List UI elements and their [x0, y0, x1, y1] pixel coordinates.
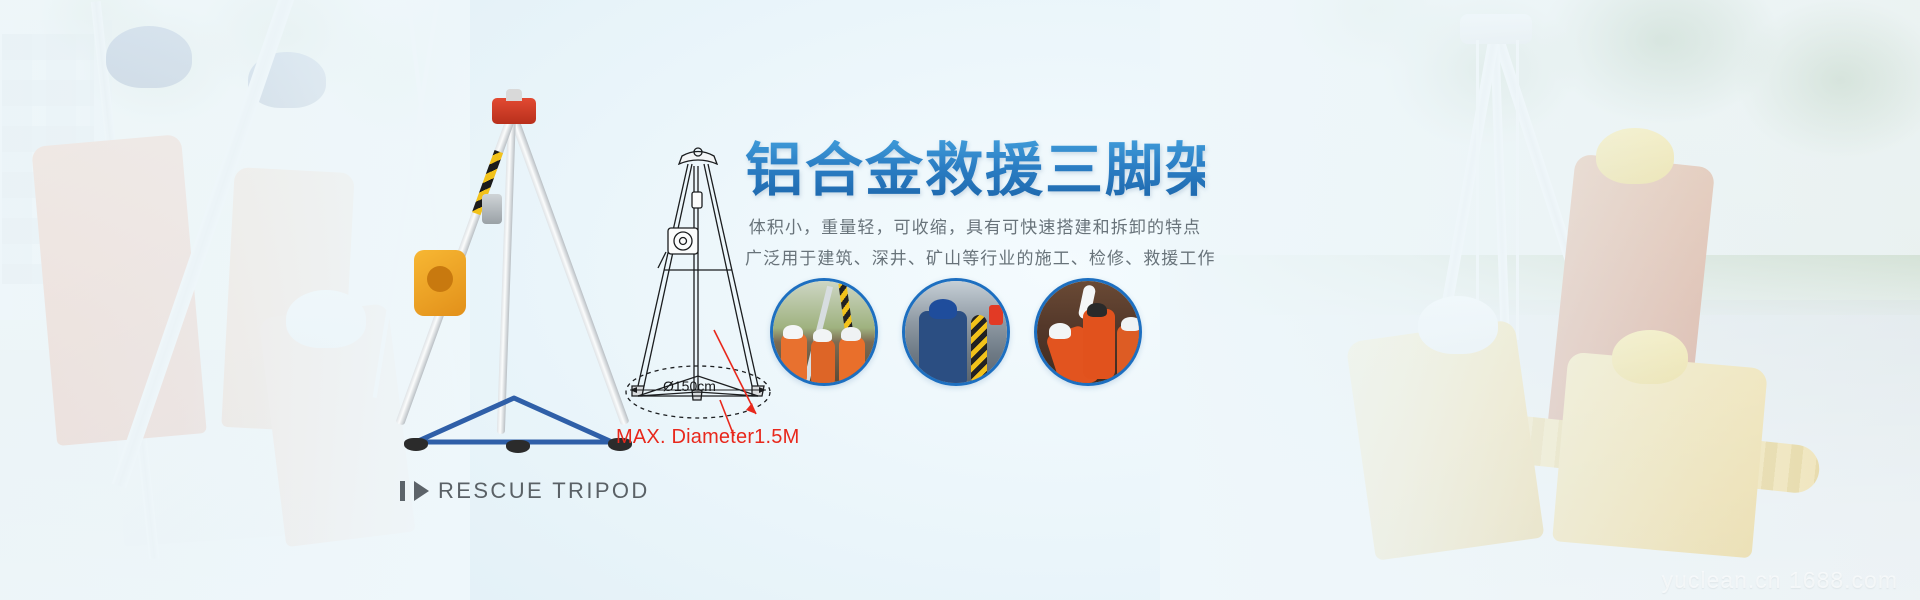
helmet-shape — [1087, 303, 1107, 317]
rubber-foot — [404, 438, 428, 451]
helmet-shape — [929, 299, 957, 319]
helmet-shape — [813, 329, 832, 342]
max-diameter-label: MAX. Diameter1.5M — [616, 426, 799, 449]
helmet-shape — [841, 327, 861, 341]
pulley-block — [482, 194, 502, 224]
diameter-label: Ø150cm — [663, 378, 716, 394]
photo-fade-overlay — [1160, 0, 1920, 600]
subtitle-line-2: 广泛用于建筑、深井、矿山等行业的施工、检修、救援工作 — [745, 244, 1205, 274]
background-photo-right — [1160, 0, 1920, 600]
photo-gallery — [770, 278, 1142, 386]
page-title: 铝合金救援三脚架 — [745, 140, 1205, 203]
product-banner: RESCUE TRIPOD — [0, 0, 1920, 600]
subtitle-line-1: 体积小，重量轻，可收缩，具有可快速搭建和拆卸的特点 — [745, 213, 1205, 243]
rescuer-figure — [781, 333, 807, 385]
winch-unit — [989, 305, 1003, 325]
hazard-stripe-leg — [971, 315, 987, 385]
play-triangle-icon — [414, 481, 429, 501]
helmet-shape — [1049, 323, 1071, 339]
gallery-photo-2[interactable] — [902, 278, 1010, 386]
product-caption: RESCUE TRIPOD — [400, 478, 650, 504]
helmet-shape — [783, 325, 803, 339]
product-caption-text: RESCUE TRIPOD — [438, 478, 650, 504]
worker-figure — [919, 311, 967, 386]
helmet-shape — [1121, 317, 1141, 331]
gallery-photo-3[interactable] — [1034, 278, 1142, 386]
gallery-photo-1[interactable] — [770, 278, 878, 386]
rescuer-figure — [1117, 325, 1142, 383]
play-triangle-icon-bar — [400, 481, 405, 501]
winch-unit — [414, 250, 466, 316]
tripod-head-assembly — [492, 98, 536, 124]
rubber-foot — [506, 440, 530, 453]
rescuer-figure — [1083, 309, 1115, 379]
rescuer-figure — [811, 339, 835, 386]
rescuer-figure — [839, 337, 865, 386]
heading-block: 铝合金救援三脚架 体积小，重量轻，可收缩，具有可快速搭建和拆卸的特点 广泛用于建… — [745, 140, 1205, 274]
